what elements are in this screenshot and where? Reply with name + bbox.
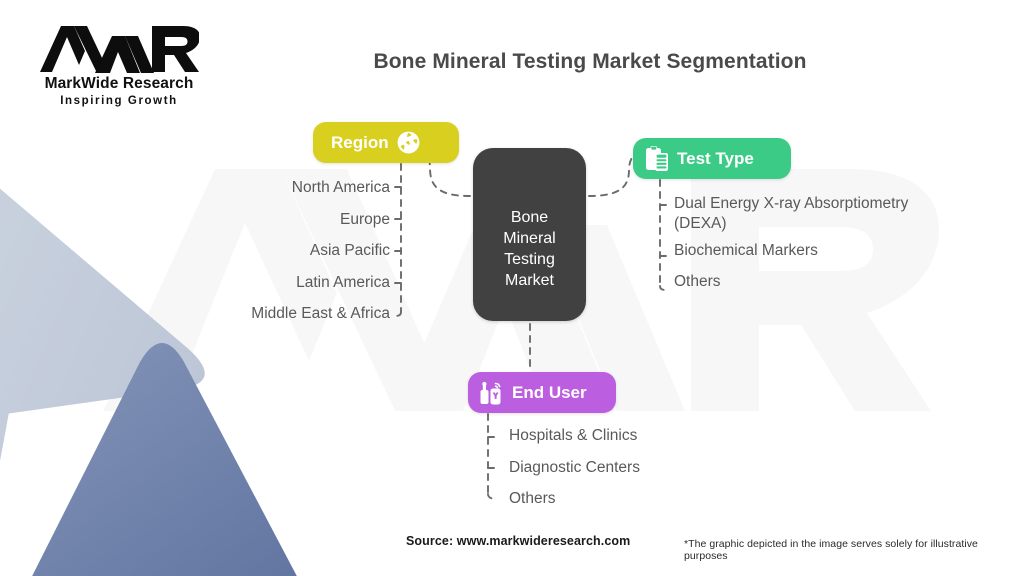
- center-label-line: Mineral: [503, 228, 555, 249]
- test-type-item-label: Dual Energy X-ray Absorptiometry (DEXA): [674, 194, 949, 234]
- region-item-label: North America: [292, 178, 390, 198]
- region-item-list: North America Europe Asia Pacific Latin …: [60, 178, 390, 336]
- list-item[interactable]: Others: [509, 489, 809, 521]
- clipboard-icon: [644, 145, 670, 172]
- end-user-item-list: Hospitals & Clinics Diagnostic Centers O…: [509, 426, 809, 521]
- list-item[interactable]: Europe: [60, 210, 390, 242]
- branch-label-test-type: Test Type: [677, 149, 754, 169]
- branch-label-region: Region: [331, 133, 389, 153]
- end-user-item-label: Diagnostic Centers: [509, 458, 809, 478]
- list-item[interactable]: Latin America: [60, 273, 390, 305]
- branch-badge-region[interactable]: Region: [313, 122, 459, 163]
- region-item-label: Asia Pacific: [310, 241, 390, 261]
- region-item-label: Latin America: [296, 273, 390, 293]
- infographic-canvas: MarkWide Research Inspiring Growth Bone …: [0, 0, 1024, 576]
- list-item[interactable]: Biochemical Markers: [674, 241, 1014, 272]
- source-text: Source: www.markwideresearch.com: [406, 534, 630, 548]
- branch-badge-test-type[interactable]: Test Type: [633, 138, 791, 179]
- list-item[interactable]: Hospitals & Clinics: [509, 426, 809, 458]
- test-type-item-label: Biochemical Markers: [674, 241, 1014, 261]
- list-item[interactable]: Middle East & Africa: [60, 304, 390, 336]
- region-item-label: Europe: [340, 210, 390, 230]
- center-label-line: Testing: [503, 249, 555, 270]
- center-label-line: Market: [503, 270, 555, 291]
- list-item[interactable]: Asia Pacific: [60, 241, 390, 273]
- medical-vials-icon: [478, 379, 506, 407]
- region-item-label: Middle East & Africa: [251, 304, 390, 324]
- globe-icon: [396, 130, 421, 155]
- test-type-item-list: Dual Energy X-ray Absorptiometry (DEXA) …: [674, 194, 1014, 303]
- list-item[interactable]: North America: [60, 178, 390, 210]
- test-type-item-label: Others: [674, 272, 1014, 292]
- branch-label-end-user: End User: [512, 383, 587, 403]
- end-user-item-label: Hospitals & Clinics: [509, 426, 809, 446]
- center-node[interactable]: Bone Mineral Testing Market: [473, 148, 586, 321]
- branch-badge-end-user[interactable]: End User: [468, 372, 616, 413]
- disclaimer-text: *The graphic depicted in the image serve…: [684, 538, 1024, 562]
- list-item[interactable]: Others: [674, 272, 1014, 303]
- list-item[interactable]: Dual Energy X-ray Absorptiometry (DEXA): [674, 194, 1014, 241]
- end-user-item-label: Others: [509, 489, 809, 509]
- list-item[interactable]: Diagnostic Centers: [509, 458, 809, 490]
- center-node-label: Bone Mineral Testing Market: [503, 207, 555, 291]
- center-label-line: Bone: [503, 207, 555, 228]
